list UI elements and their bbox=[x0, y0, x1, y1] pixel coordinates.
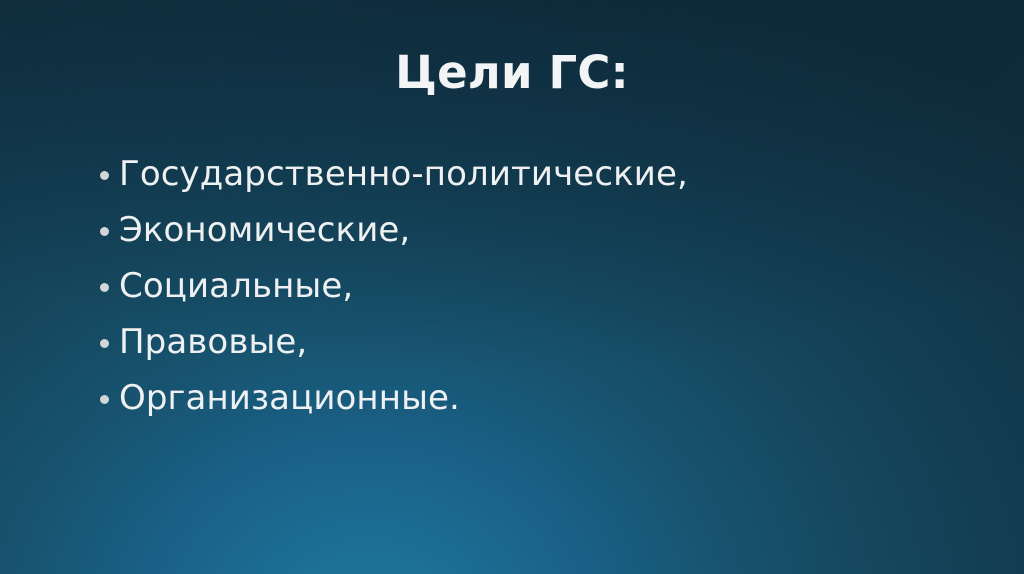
list-item: Социальные, bbox=[96, 264, 956, 308]
list-item: Организационные. bbox=[96, 376, 956, 420]
bullet-dot-icon bbox=[100, 171, 109, 180]
list-item-label: Организационные. bbox=[119, 376, 460, 420]
bullet-list: Государственно-политические, Экономическ… bbox=[96, 152, 956, 432]
bullet-dot-icon bbox=[100, 227, 109, 236]
list-item-label: Экономические, bbox=[119, 208, 410, 252]
list-item-label: Правовые, bbox=[119, 320, 307, 364]
list-item: Правовые, bbox=[96, 320, 956, 364]
list-item: Государственно-политические, bbox=[96, 152, 956, 196]
list-item-label: Государственно-политические, bbox=[119, 152, 688, 196]
bullet-dot-icon bbox=[100, 395, 109, 404]
slide-title: Цели ГС: bbox=[0, 44, 1024, 102]
bullet-dot-icon bbox=[100, 283, 109, 292]
presentation-slide: Цели ГС: Государственно-политические, Эк… bbox=[0, 0, 1024, 574]
bullet-dot-icon bbox=[100, 339, 109, 348]
list-item: Экономические, bbox=[96, 208, 956, 252]
list-item-label: Социальные, bbox=[119, 264, 353, 308]
